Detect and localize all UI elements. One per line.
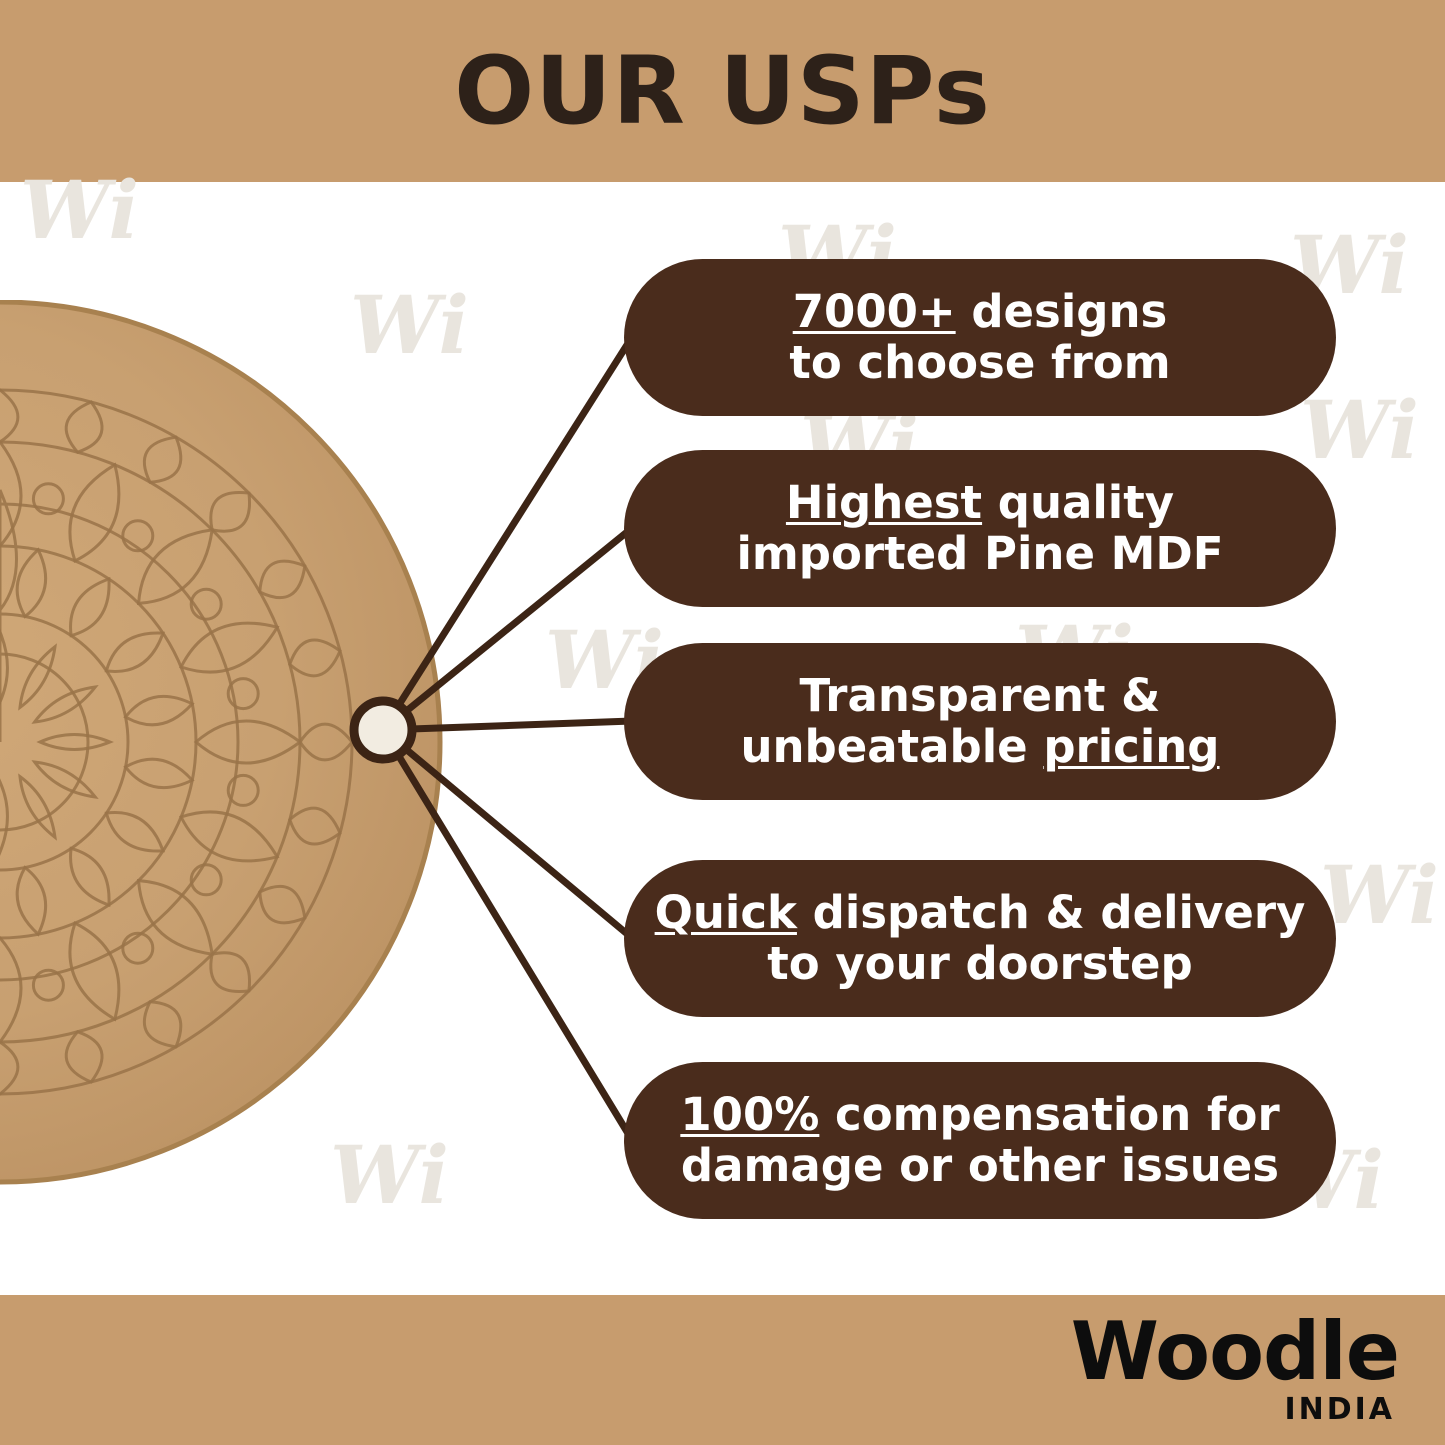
usp-card-designs[interactable]: 7000+ designs to choose from	[624, 259, 1336, 416]
watermark: Wi	[1300, 390, 1419, 470]
usp-highlight: 7000+	[793, 285, 956, 338]
page-title: OUR USPs	[0, 0, 1445, 182]
watermark: Wi	[1320, 855, 1439, 935]
usp-line-1: 7000+ designs	[793, 287, 1168, 337]
usp-line-2: damage or other issues	[681, 1141, 1279, 1191]
usp-line-2: unbeatable pricing	[740, 722, 1219, 772]
brand-logo-main: Woodle	[1071, 1314, 1399, 1390]
usp-highlight: Highest	[786, 476, 982, 529]
usp-highlight: pricing	[1043, 720, 1219, 773]
usp-line-1: Quick dispatch & delivery	[655, 888, 1306, 938]
usp-line-2: to choose from	[789, 338, 1170, 388]
usp-card-compensation[interactable]: 100% compensation for damage or other is…	[624, 1062, 1336, 1219]
usp-line-1: Highest quality	[786, 478, 1174, 528]
usp-line-1: Transparent &	[800, 671, 1161, 721]
usp-card-pricing[interactable]: Transparent & unbeatable pricing	[624, 643, 1336, 800]
usp-line-2: to your doorstep	[767, 939, 1193, 989]
usp-line-2: imported Pine MDF	[736, 529, 1223, 579]
usp-highlight: 100%	[680, 1088, 819, 1141]
brand-logo: Woodle INDIA	[1071, 1314, 1399, 1427]
usp-line-1: 100% compensation for	[680, 1090, 1279, 1140]
watermark: Wi	[20, 170, 139, 250]
usp-infographic: Wi Wi Wi Wi Wi Wi Wi Wi Wi Wi Wi	[0, 0, 1445, 1445]
usp-highlight: Quick	[655, 886, 797, 939]
usp-card-dispatch[interactable]: Quick dispatch & delivery to your doorst…	[624, 860, 1336, 1017]
usp-card-quality[interactable]: Highest quality imported Pine MDF	[624, 450, 1336, 607]
mdf-mandala-board	[0, 300, 445, 1185]
